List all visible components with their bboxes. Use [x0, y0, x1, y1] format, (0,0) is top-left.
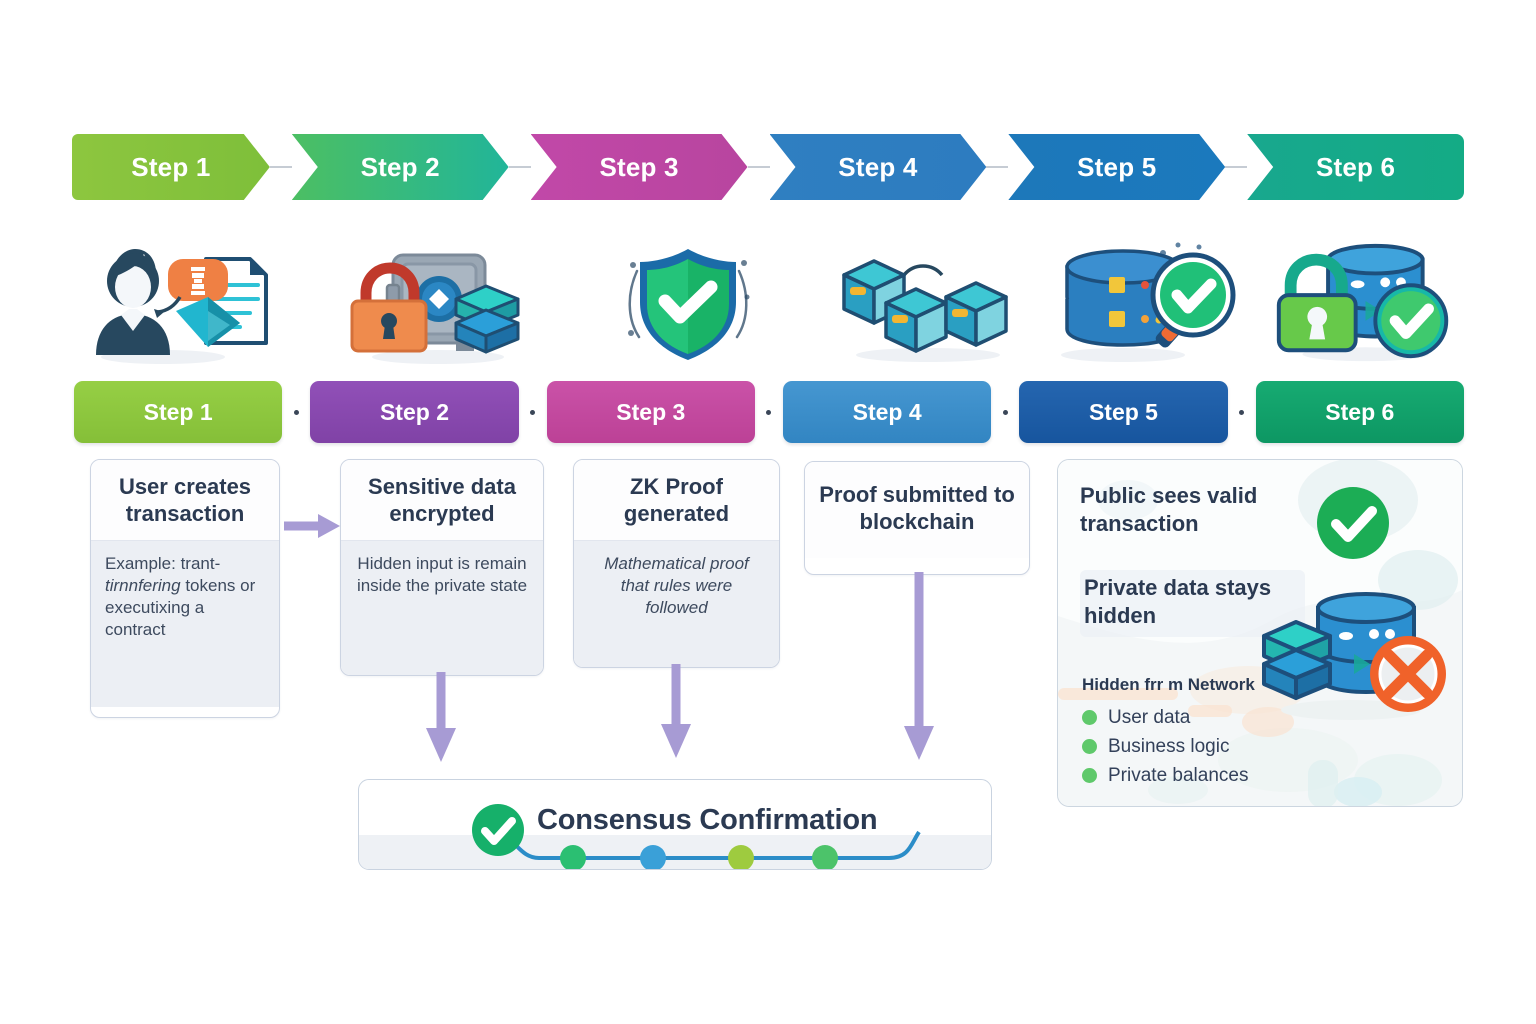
chevron-step-1-label: Step 1: [131, 152, 210, 183]
pill-step-6[interactable]: Step 6: [1256, 381, 1464, 443]
chevron-step-6[interactable]: Step 6: [1247, 134, 1464, 200]
panel-content: Public sees valid transaction Private da…: [1058, 460, 1462, 806]
panel-heading-public: Public sees valid transaction: [1080, 482, 1310, 537]
pill-separator: [991, 410, 1019, 415]
chevron-step-1[interactable]: Step 1: [72, 134, 270, 200]
pill-separator: [519, 410, 547, 415]
card-step-3-title: ZK Proof generated: [574, 460, 779, 540]
icon-cell-3: [572, 232, 804, 372]
icon-cell-2: [322, 232, 554, 372]
panel-list-item-label: User data: [1108, 707, 1190, 729]
icon-row: [72, 232, 1464, 372]
card-step-1-body-part-1: Example: trant-: [105, 554, 220, 573]
lock-database-check-icon: [1267, 237, 1464, 367]
database-verify-icon: [1053, 237, 1253, 367]
safe-lock-icon: [338, 237, 538, 367]
card-step-2-body: Hidden input is remain inside the privat…: [341, 540, 543, 676]
pill-step-row: Step 1 Step 2 Step 3 Step 4 Step 5 Step …: [74, 381, 1464, 443]
card-step-1-body-italic: tirnnfering: [105, 576, 181, 595]
panel-list-item: Business logic: [1082, 732, 1248, 761]
card-step-1-body: Example: trant-tirnnfering tokens or exe…: [91, 540, 279, 707]
pill-separator: [1228, 410, 1256, 415]
pill-step-3-label: Step 3: [616, 399, 685, 426]
chevron-connector: [509, 166, 531, 168]
icon-cell-5: [1037, 232, 1269, 372]
panel-list-item: User data: [1082, 703, 1248, 732]
chevron-step-2[interactable]: Step 2: [292, 134, 509, 200]
bullet-dot-icon: [1082, 739, 1097, 754]
card-step-3-body: Mathematical proof that rules were follo…: [574, 540, 779, 668]
card-step-2-title: Sensitive data encrypted: [341, 460, 543, 540]
consensus-title: Consensus Confirmation: [537, 804, 877, 837]
card-step-1-title: User creates transaction: [91, 460, 279, 540]
consensus-confirmation-box[interactable]: Consensus Confirmation: [358, 779, 992, 870]
chevron-step-4[interactable]: Step 4: [770, 134, 987, 200]
chevron-step-2-label: Step 2: [361, 152, 440, 183]
chevron-step-6-label: Step 6: [1316, 152, 1395, 183]
pill-dot: [530, 410, 535, 415]
panel-check-icon: [1316, 486, 1390, 560]
chevron-step-3-label: Step 3: [599, 152, 678, 183]
panel-hidden-list: User data Business logic Private balance…: [1082, 703, 1248, 790]
diagram-canvas: Step 1 Step 2 Step 3 Step 4 Step 5 Step …: [0, 0, 1536, 1024]
pill-step-2[interactable]: Step 2: [310, 381, 518, 443]
blockchain-cubes-icon: [828, 237, 1028, 367]
user-transaction-icon: [88, 237, 288, 367]
pill-step-3[interactable]: Step 3: [547, 381, 755, 443]
bullet-dot-icon: [1082, 710, 1097, 725]
consensus-check-icon: [471, 803, 525, 857]
card-step-4-title: Proof submitted to blockchain: [805, 462, 1029, 558]
chevron-connector: [1225, 166, 1247, 168]
panel-hidden-data-icon: [1256, 588, 1462, 728]
card-step-2[interactable]: Sensitive data encrypted Hidden input is…: [340, 459, 544, 676]
shield-check-icon: [613, 237, 763, 367]
pill-step-4[interactable]: Step 4: [783, 381, 991, 443]
chevron-step-5[interactable]: Step 5: [1008, 134, 1225, 200]
panel-list-item-label: Business logic: [1108, 736, 1229, 758]
bullet-dot-icon: [1082, 768, 1097, 783]
arrow-card1-to-card2: [284, 512, 342, 540]
arrow-card2-to-consensus: [424, 672, 458, 764]
pill-dot: [1239, 410, 1244, 415]
chevron-step-row: Step 1 Step 2 Step 3 Step 4 Step 5 Step …: [72, 134, 1464, 200]
pill-step-5-label: Step 5: [1089, 399, 1158, 426]
pill-dot: [1003, 410, 1008, 415]
card-step-4[interactable]: Proof submitted to blockchain: [804, 461, 1030, 575]
chevron-connector: [270, 166, 292, 168]
icon-cell-4: [812, 232, 1044, 372]
pill-step-1-label: Step 1: [144, 399, 213, 426]
outcome-panel[interactable]: Public sees valid transaction Private da…: [1057, 459, 1463, 807]
pill-dot: [294, 410, 299, 415]
icon-cell-1: [72, 232, 304, 372]
pill-separator: [755, 410, 783, 415]
panel-list-item-label: Private balances: [1108, 765, 1248, 787]
chevron-step-5-label: Step 5: [1077, 152, 1156, 183]
panel-subheading: Hidden frr m Network: [1082, 675, 1255, 695]
chevron-connector: [986, 166, 1008, 168]
pill-step-4-label: Step 4: [853, 399, 922, 426]
chevron-step-4-label: Step 4: [838, 152, 917, 183]
arrow-card4-to-consensus: [902, 572, 936, 762]
card-step-1[interactable]: User creates transaction Example: trant-…: [90, 459, 280, 718]
pill-step-6-label: Step 6: [1325, 399, 1394, 426]
chevron-connector: [748, 166, 770, 168]
chevron-step-3[interactable]: Step 3: [531, 134, 748, 200]
pill-step-2-label: Step 2: [380, 399, 449, 426]
pill-dot: [766, 410, 771, 415]
pill-separator: [282, 410, 310, 415]
pill-step-1[interactable]: Step 1: [74, 381, 282, 443]
pill-step-5[interactable]: Step 5: [1019, 381, 1227, 443]
panel-list-item: Private balances: [1082, 761, 1248, 790]
arrow-card3-to-consensus: [659, 664, 693, 760]
icon-cell-6: [1267, 232, 1464, 372]
card-step-3[interactable]: ZK Proof generated Mathematical proof th…: [573, 459, 780, 668]
